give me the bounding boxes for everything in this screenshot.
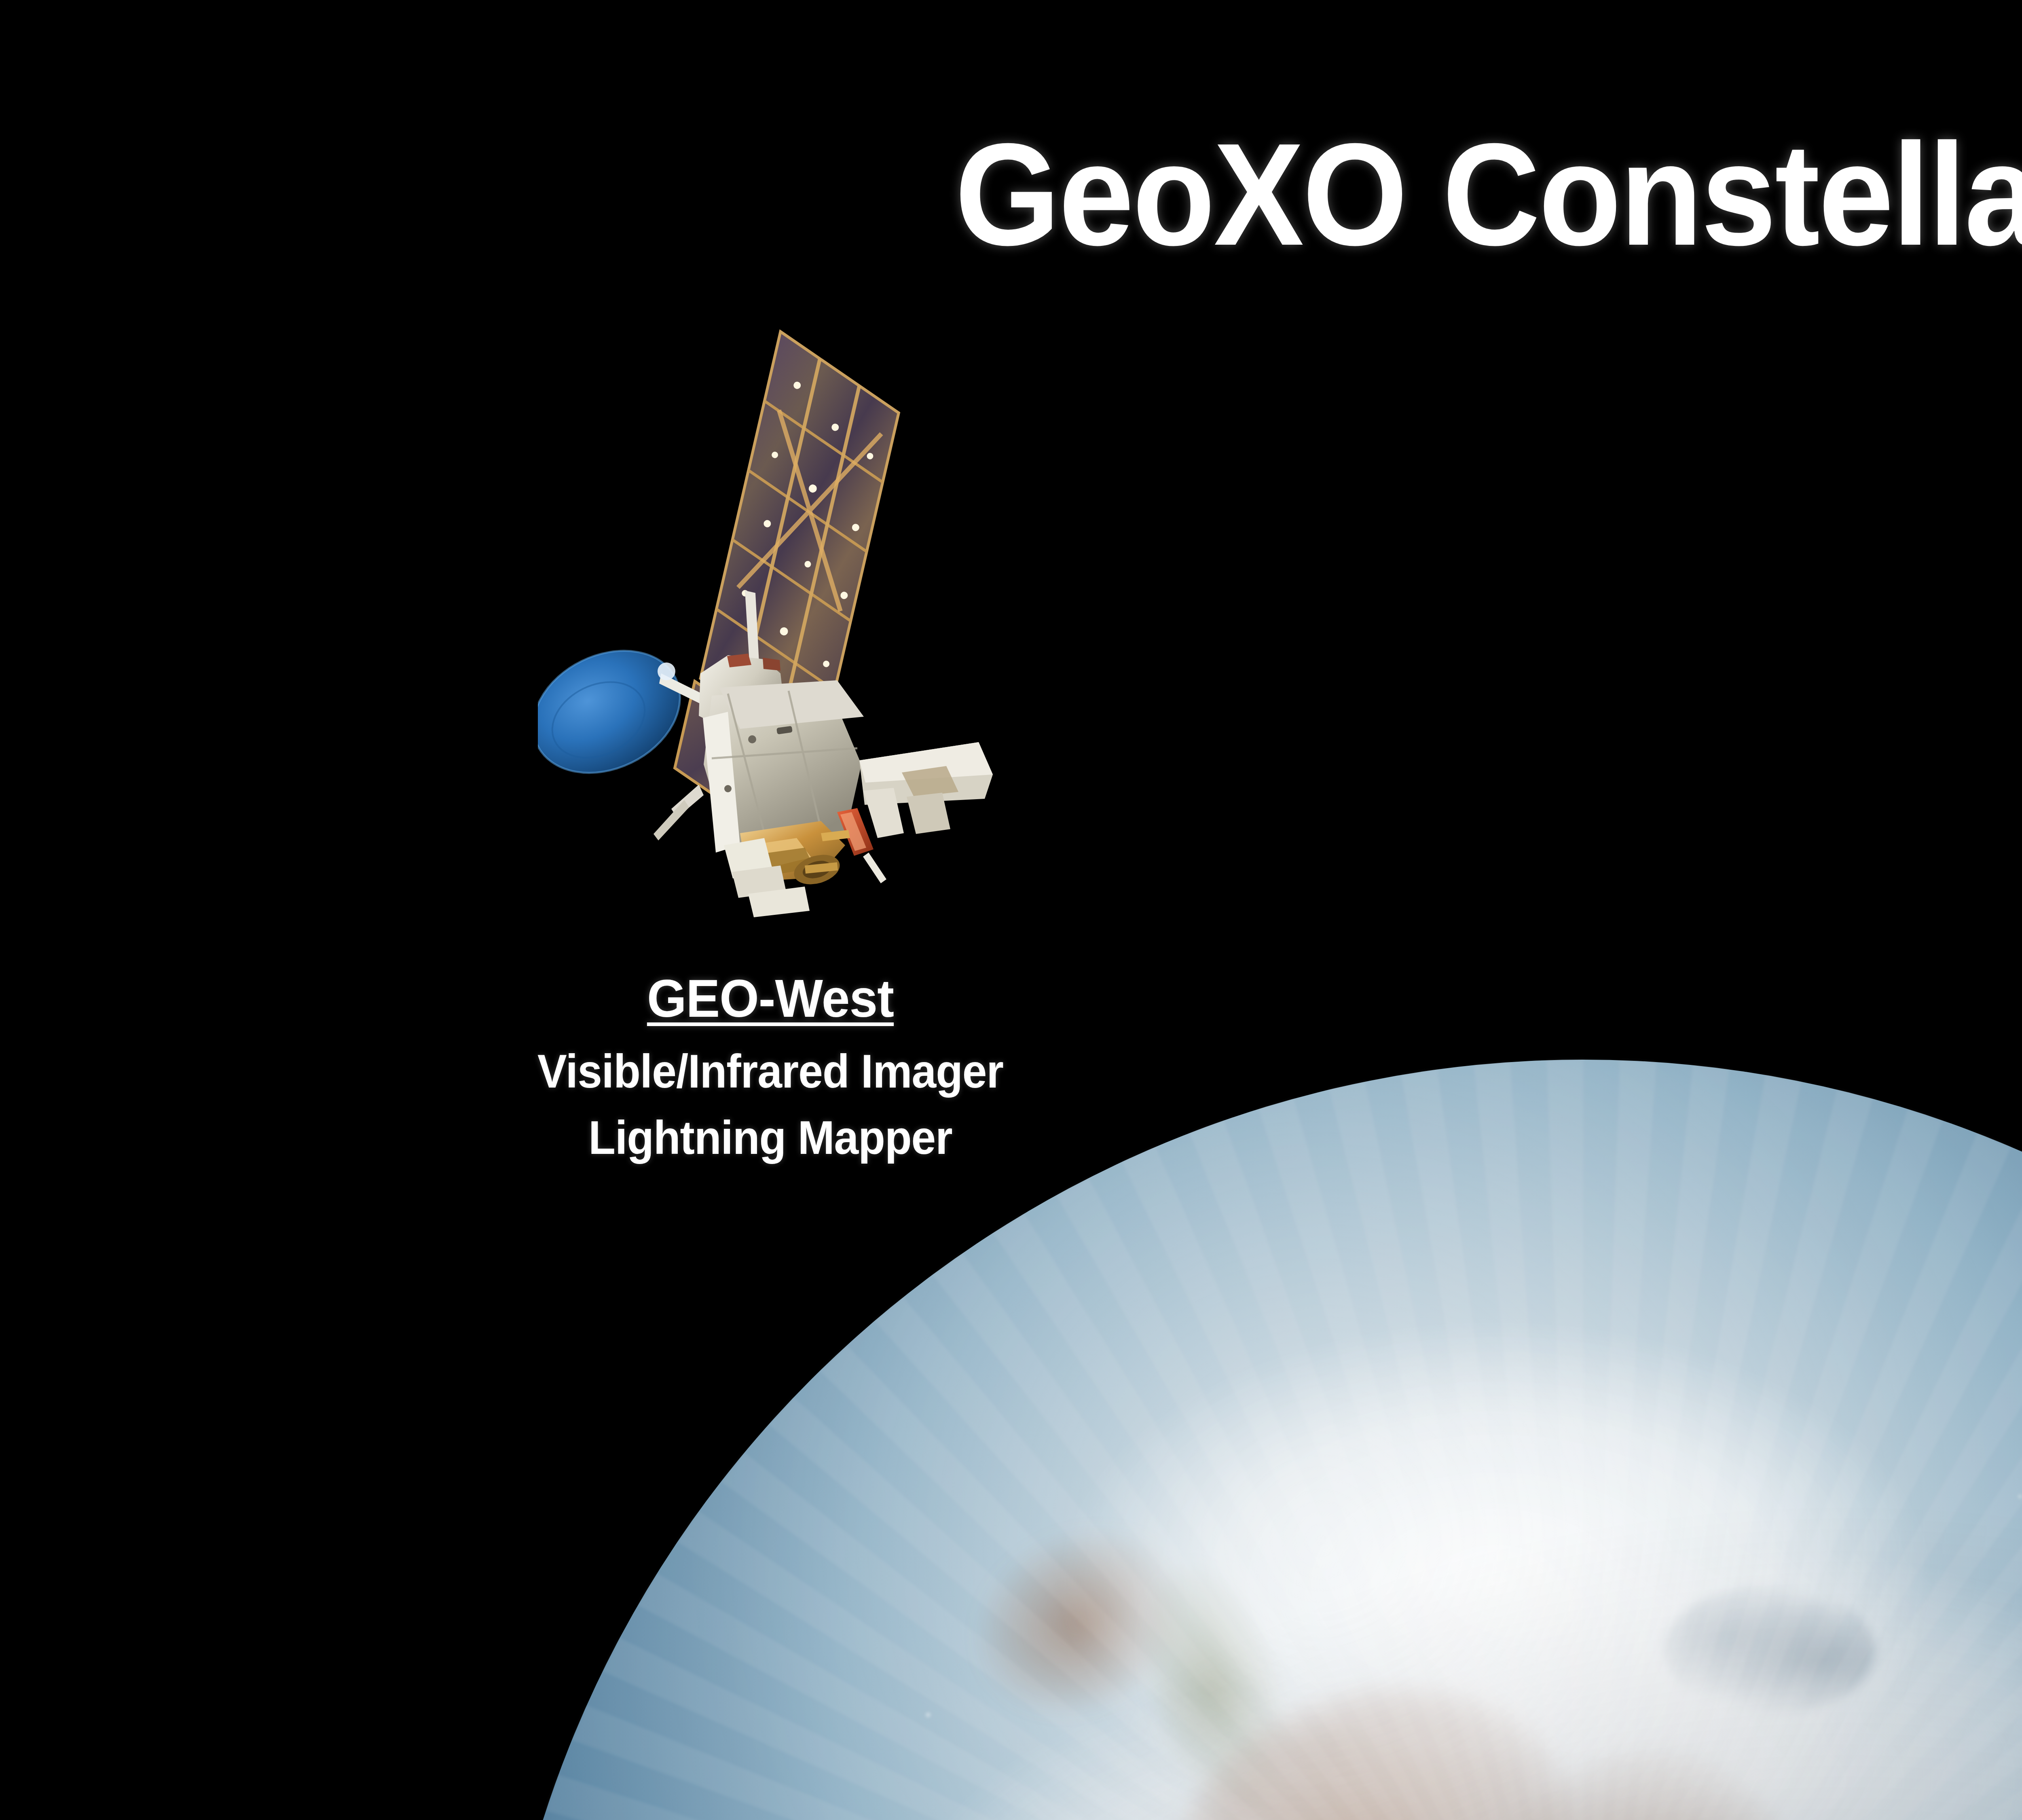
earth-globe xyxy=(491,1060,2022,1820)
earth-limb-rim-light xyxy=(491,1060,2022,1820)
page-title: GeoXO Constellation xyxy=(113,121,2022,267)
instrument-west-1: Visible/Infrared Imager xyxy=(485,1048,1055,1095)
label-geo-west: GEO-West Visible/Infrared Imager Lightni… xyxy=(467,971,1074,1161)
satellite-name-west: GEO-West xyxy=(482,971,1059,1026)
instrument-west-2: Lightning Mapper xyxy=(485,1114,1055,1161)
radiator-wing xyxy=(859,742,993,838)
geoxo-constellation-graphic: GeoXO Constellation xyxy=(0,0,2022,1820)
satellite-geo-west xyxy=(538,307,1015,963)
